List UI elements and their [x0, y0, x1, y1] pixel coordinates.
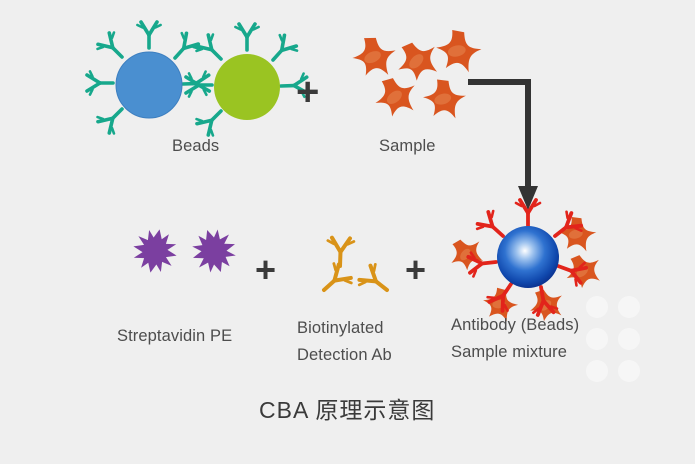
plus-sign-bottom-2: + [405, 252, 426, 288]
sample-cell [554, 213, 599, 256]
sample-label: Sample [379, 137, 436, 156]
streptavidin-group [125, 218, 245, 288]
figure-canvas: Beads + Sample Str [0, 0, 695, 464]
sample-cell [393, 38, 442, 85]
watermark-dot [586, 360, 608, 382]
sample-cell [373, 76, 418, 118]
blue-bead [116, 52, 182, 118]
streptavidin-pe-particle [186, 223, 242, 279]
streptavidin-pe-particle [129, 225, 181, 277]
beads-label: Beads [172, 137, 219, 156]
watermark-dot [618, 328, 640, 350]
figure-title: CBA 原理示意图 [259, 391, 435, 425]
watermark-dot [618, 360, 640, 382]
detection-antibody [357, 263, 395, 301]
watermark-dot [618, 296, 640, 318]
green-bead [214, 54, 280, 120]
detection-antibody-group [302, 218, 412, 293]
sample-cell [350, 35, 397, 79]
detection-antibody [315, 262, 353, 300]
plus-sign-top: + [296, 72, 319, 112]
detection-antibody [327, 238, 354, 267]
detection-ab-label-line2: Detection Ab [297, 342, 437, 368]
detection-ab-label-line1: Biotinylated [297, 315, 437, 341]
capture-antibody [516, 200, 540, 227]
plus-sign-bottom-1: + [255, 252, 276, 288]
beads-group [95, 28, 305, 138]
streptavidin-label: Streptavidin PE [117, 327, 232, 346]
complex-label-line2: Sample mixture [451, 343, 567, 362]
flow-arrow [460, 68, 550, 218]
complex-label-line1: Antibody (Beads) [451, 316, 579, 335]
watermark-dot [586, 328, 608, 350]
antibody-bead-sample-complex [445, 205, 620, 320]
sample-group [345, 30, 475, 125]
capture-antibody [468, 250, 497, 277]
sample-cell [445, 234, 487, 275]
complex-bead [497, 226, 559, 288]
